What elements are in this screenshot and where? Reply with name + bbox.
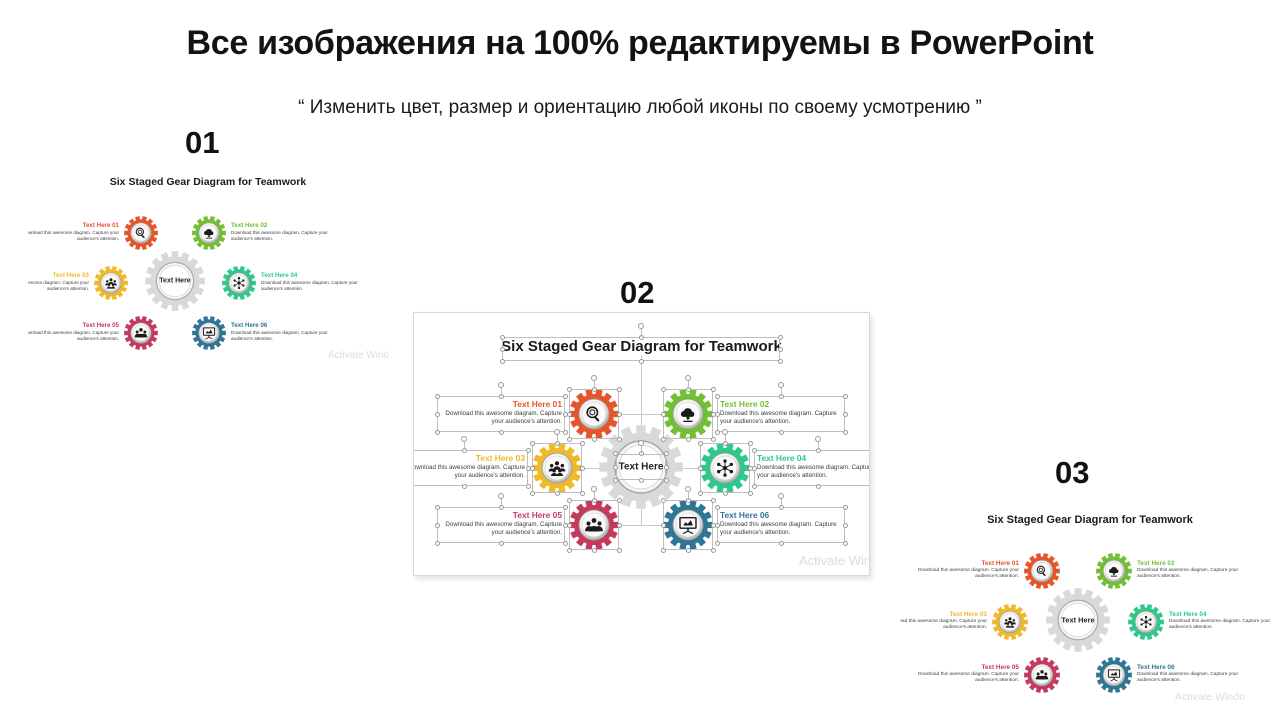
gear-shape[interactable] <box>663 500 713 550</box>
rotate-handle-stem <box>781 387 782 396</box>
resize-handle[interactable] <box>698 466 703 471</box>
magnifier-icon <box>134 226 148 240</box>
rotate-handle-stem <box>781 498 782 507</box>
gear-text-heading: Text Here 03 <box>28 272 89 279</box>
network-icon <box>715 458 735 478</box>
rotate-handle[interactable] <box>638 440 644 446</box>
gear-shape[interactable] <box>222 266 256 300</box>
resize-handle[interactable] <box>580 466 585 471</box>
gear-text-heading: Text Here 02 <box>231 222 329 229</box>
resize-handle[interactable] <box>639 359 644 364</box>
gear-shape[interactable] <box>700 443 750 493</box>
gear-text-heading: Text Here 04 <box>1169 611 1273 618</box>
resize-handle[interactable] <box>711 548 716 553</box>
resize-handle[interactable] <box>435 505 440 510</box>
gear-shape[interactable] <box>192 216 226 250</box>
page-title: Все изображения на 100% редактируемы в P… <box>0 24 1280 63</box>
resize-handle[interactable] <box>639 478 644 483</box>
gear-text-block[interactable]: Text Here 06Download this awesome diagra… <box>1137 664 1241 685</box>
resize-handle[interactable] <box>664 465 669 470</box>
resize-handle[interactable] <box>711 437 716 442</box>
resize-handle[interactable] <box>698 491 703 496</box>
magnifier-icon <box>1035 564 1049 578</box>
gear-text-heading: Text Here 02 <box>1137 560 1241 567</box>
rotate-handle-stem <box>818 441 819 450</box>
gear-shape[interactable] <box>1024 553 1060 589</box>
resize-handle[interactable] <box>563 412 568 417</box>
resize-handle[interactable] <box>723 491 728 496</box>
network-icon <box>232 276 246 290</box>
gear-shape[interactable] <box>124 316 158 350</box>
resize-handle[interactable] <box>435 394 440 399</box>
gear-text-heading: Text Here 06 <box>720 510 842 520</box>
slide-canvas: Все изображения на 100% редактируемы в P… <box>0 0 1280 720</box>
gear-diagram-02[interactable]: Six Staged Gear Diagram for Teamwork Tex… <box>413 312 870 576</box>
gear-text-body: Download this awesome diagram. Capture y… <box>231 230 329 242</box>
cloud-download-icon <box>1107 564 1121 578</box>
gear-text-body: Download this awesome diagram. Capture y… <box>900 619 987 632</box>
resize-handle[interactable] <box>711 387 716 392</box>
rotate-handle-stem <box>725 434 726 443</box>
resize-handle[interactable] <box>843 505 848 510</box>
resize-handle[interactable] <box>661 387 666 392</box>
resize-handle[interactable] <box>563 541 568 546</box>
resize-handle[interactable] <box>664 451 669 456</box>
resize-handle[interactable] <box>843 430 848 435</box>
activate-windows-watermark: Activate Windo <box>328 350 388 361</box>
resize-handle[interactable] <box>715 430 720 435</box>
step-number-01: 01 <box>185 125 219 161</box>
resize-handle[interactable] <box>778 359 783 364</box>
resize-handle[interactable] <box>563 430 568 435</box>
resize-handle[interactable] <box>843 541 848 546</box>
gear-shape[interactable] <box>1024 657 1060 693</box>
gear-text-heading: Text Here 01 <box>440 399 562 409</box>
gear-text-block[interactable]: Text Here 03Download this awesome diagra… <box>28 272 89 292</box>
gear-text-block[interactable]: Text Here 04Download this awesome diagra… <box>757 453 870 480</box>
gear-text-heading: Text Here 03 <box>413 453 525 463</box>
resize-handle[interactable] <box>711 498 716 503</box>
resize-handle[interactable] <box>613 465 618 470</box>
resize-handle[interactable] <box>698 441 703 446</box>
rotate-handle[interactable] <box>591 486 597 492</box>
gear-text-body: Download this awesome diagram. Capture y… <box>757 464 870 480</box>
resize-handle[interactable] <box>526 466 531 471</box>
resize-handle[interactable] <box>530 441 535 446</box>
resize-handle[interactable] <box>748 491 753 496</box>
group-people-icon <box>547 458 567 478</box>
resize-handle[interactable] <box>500 359 505 364</box>
resize-handle[interactable] <box>715 541 720 546</box>
resize-handle[interactable] <box>530 491 535 496</box>
resize-handle[interactable] <box>500 347 505 352</box>
presentation-icon <box>1107 668 1121 682</box>
resize-handle[interactable] <box>567 498 572 503</box>
gear-text-block[interactable]: Text Here 01Download this awesome diagra… <box>440 399 562 426</box>
gear-text-body: Download this awesome diagram. Capture y… <box>1169 619 1273 632</box>
gear-shape[interactable] <box>569 389 619 439</box>
resize-handle[interactable] <box>752 448 757 453</box>
resize-handle[interactable] <box>779 430 784 435</box>
teamwork-icon <box>584 515 604 535</box>
rotate-handle[interactable] <box>591 375 597 381</box>
gear-shape[interactable] <box>94 266 128 300</box>
gear-shape[interactable] <box>1096 657 1132 693</box>
rotate-handle[interactable] <box>778 493 784 499</box>
rotate-handle[interactable] <box>685 486 691 492</box>
gear-text-block[interactable]: Text Here 02Download this awesome diagra… <box>1137 560 1241 581</box>
resize-handle[interactable] <box>779 541 784 546</box>
resize-handle[interactable] <box>617 437 622 442</box>
center-gear[interactable]: Text Here <box>145 251 205 311</box>
group-people-icon <box>1003 615 1017 629</box>
gear-text-body: Download this awesome diagram. Capture y… <box>915 568 1019 581</box>
resize-handle[interactable] <box>661 523 666 528</box>
resize-handle[interactable] <box>816 484 821 489</box>
resize-handle[interactable] <box>664 478 669 483</box>
rotate-handle-stem <box>594 380 595 389</box>
gear-text-block[interactable]: Text Here 04Download this awesome diagra… <box>1169 611 1273 632</box>
resize-handle[interactable] <box>462 484 467 489</box>
resize-handle[interactable] <box>617 548 622 553</box>
gear-text-block[interactable]: Text Here 06Download this awesome diagra… <box>720 510 842 537</box>
gear-text-heading: Text Here 05 <box>915 664 1019 671</box>
rotate-handle[interactable] <box>498 493 504 499</box>
gear-text-block[interactable]: Text Here 02Download this awesome diagra… <box>720 399 842 426</box>
resize-handle[interactable] <box>843 394 848 399</box>
gear-text-body: Download this awesome diagram. Capture y… <box>720 521 842 537</box>
resize-handle[interactable] <box>778 347 783 352</box>
resize-handle[interactable] <box>567 387 572 392</box>
resize-handle[interactable] <box>580 491 585 496</box>
teamwork-icon <box>134 326 148 340</box>
activate-windows-watermark: Activate Windo <box>1175 691 1245 703</box>
resize-handle[interactable] <box>715 412 720 417</box>
resize-handle[interactable] <box>617 387 622 392</box>
magnifier-icon <box>584 404 604 424</box>
diagram-title: Six Staged Gear Diagram for Teamwork <box>414 338 869 355</box>
page-subtitle: “ Изменить цвет, размер и ориентацию люб… <box>0 97 1280 119</box>
gear-text-heading: Text Here 04 <box>261 272 359 279</box>
cloud-download-icon <box>678 404 698 424</box>
resize-handle[interactable] <box>843 412 848 417</box>
resize-handle[interactable] <box>563 523 568 528</box>
gear-text-body: Download this awesome diagram. Capture y… <box>440 410 562 426</box>
rotate-handle[interactable] <box>685 375 691 381</box>
rotate-handle[interactable] <box>554 429 560 435</box>
rotate-handle-stem <box>594 491 595 500</box>
gear-text-heading: Text Here 04 <box>757 453 870 463</box>
activate-windows-watermark: Activate Win <box>799 553 870 568</box>
resize-handle[interactable] <box>499 430 504 435</box>
rotate-handle[interactable] <box>461 436 467 442</box>
resize-handle[interactable] <box>567 548 572 553</box>
step-number-03: 03 <box>1055 455 1089 491</box>
resize-handle[interactable] <box>715 394 720 399</box>
gear-text-body: Download this awesome diagram. Capture y… <box>28 280 89 292</box>
resize-handle[interactable] <box>526 448 531 453</box>
gear-text-heading: Text Here 05 <box>440 510 562 520</box>
resize-handle[interactable] <box>752 484 757 489</box>
rotate-handle-stem <box>501 498 502 507</box>
rotate-handle-stem <box>688 380 689 389</box>
gear-shape[interactable] <box>532 443 582 493</box>
gear-text-heading: Text Here 01 <box>915 560 1019 567</box>
rotate-handle[interactable] <box>638 323 644 329</box>
resize-handle[interactable] <box>567 437 572 442</box>
gear-text-body: Download this awesome diagram. Capture y… <box>720 410 842 426</box>
resize-handle[interactable] <box>617 498 622 503</box>
cloud-download-icon <box>202 226 216 240</box>
resize-handle[interactable] <box>617 523 622 528</box>
gear-text-body: Download this awesome diagram. Capture y… <box>915 672 1019 685</box>
gear-text-block[interactable]: Text Here 01Download this awesome diagra… <box>28 222 119 242</box>
rotate-handle-stem <box>557 434 558 443</box>
diagram-title: Six Staged Gear Diagram for Teamwork <box>900 514 1280 526</box>
resize-handle[interactable] <box>661 412 666 417</box>
rotate-handle-stem <box>641 328 642 337</box>
resize-handle[interactable] <box>778 335 783 340</box>
gear-shape[interactable] <box>124 216 158 250</box>
rotate-handle-stem <box>464 441 465 450</box>
center-gear-label: Text Here <box>159 278 190 285</box>
resize-handle[interactable] <box>555 491 560 496</box>
resize-handle[interactable] <box>500 335 505 340</box>
gear-text-block[interactable]: Text Here 03Download this awesome diagra… <box>900 611 987 632</box>
rotate-handle[interactable] <box>722 429 728 435</box>
resize-handle[interactable] <box>715 523 720 528</box>
resize-handle[interactable] <box>752 466 757 471</box>
resize-handle[interactable] <box>715 505 720 510</box>
rotate-handle-stem <box>501 387 502 396</box>
gear-text-body: Download this awesome diagram. Capture y… <box>28 230 119 242</box>
gear-text-body: Download this awesome diagram. Capture y… <box>1137 672 1241 685</box>
teamwork-icon <box>1035 668 1049 682</box>
gear-text-body: Download this awesome diagram. Capture y… <box>1137 568 1241 581</box>
gear-text-heading: Text Here 06 <box>231 322 329 329</box>
resize-handle[interactable] <box>661 548 666 553</box>
rotate-handle-stem <box>641 445 642 454</box>
gear-shape[interactable] <box>992 604 1028 640</box>
center-gear[interactable]: Text Here <box>1046 588 1110 652</box>
gear-shape[interactable] <box>192 316 226 350</box>
gear-text-block[interactable]: Text Here 03Download this awesome diagra… <box>413 453 525 480</box>
gear-shape[interactable] <box>569 500 619 550</box>
gear-text-heading: Text Here 03 <box>900 611 987 618</box>
gear-text-block[interactable]: Text Here 05Download this awesome diagra… <box>915 664 1019 685</box>
gear-text-heading: Text Here 01 <box>28 222 119 229</box>
gear-text-body: Download this awesome diagram. Capture y… <box>231 330 329 342</box>
gear-text-body: Download this awesome diagram. Capture y… <box>261 280 359 292</box>
gear-shape[interactable] <box>663 389 713 439</box>
resize-handle[interactable] <box>435 523 440 528</box>
gear-text-block[interactable]: Text Here 05Download this awesome diagra… <box>28 322 119 342</box>
gear-text-body: Download this awesome diagram. Capture y… <box>28 330 119 342</box>
resize-handle[interactable] <box>661 437 666 442</box>
center-gear-label: Text Here <box>619 462 664 473</box>
gear-text-heading: Text Here 02 <box>720 399 842 409</box>
rotate-handle[interactable] <box>778 382 784 388</box>
resize-handle[interactable] <box>563 505 568 510</box>
center-gear-label: Text Here <box>1061 616 1094 625</box>
gear-shape[interactable] <box>1128 604 1164 640</box>
gear-text-block[interactable]: Text Here 02Download this awesome diagra… <box>231 222 329 242</box>
gear-text-block[interactable]: Text Here 05Download this awesome diagra… <box>440 510 562 537</box>
gear-text-heading: Text Here 05 <box>28 322 119 329</box>
resize-handle[interactable] <box>563 394 568 399</box>
gear-text-body: Download this awesome diagram. Capture y… <box>440 521 562 537</box>
resize-handle[interactable] <box>499 541 504 546</box>
resize-handle[interactable] <box>843 523 848 528</box>
resize-handle[interactable] <box>435 541 440 546</box>
resize-handle[interactable] <box>580 441 585 446</box>
network-icon <box>1139 615 1153 629</box>
gear-diagram-03[interactable]: Six Staged Gear Diagram for Teamwork Tex… <box>900 508 1280 714</box>
resize-handle[interactable] <box>686 437 691 442</box>
gear-text-heading: Text Here 06 <box>1137 664 1241 671</box>
group-people-icon <box>104 276 118 290</box>
rotate-handle[interactable] <box>498 382 504 388</box>
resize-handle[interactable] <box>592 548 597 553</box>
resize-handle[interactable] <box>661 498 666 503</box>
resize-handle[interactable] <box>435 412 440 417</box>
diagram-title: Six Staged Gear Diagram for Teamwork <box>28 176 388 188</box>
gear-diagram-01[interactable]: Six Staged Gear Diagram for Teamwork Tex… <box>28 168 388 373</box>
rotate-handle[interactable] <box>815 436 821 442</box>
gear-text-block[interactable]: Text Here 04Download this awesome diagra… <box>261 272 359 292</box>
presentation-icon <box>678 515 698 535</box>
resize-handle[interactable] <box>435 430 440 435</box>
gear-shape[interactable] <box>1096 553 1132 589</box>
rotate-handle-stem <box>688 491 689 500</box>
step-number-02: 02 <box>620 275 654 311</box>
resize-handle[interactable] <box>686 548 691 553</box>
resize-handle[interactable] <box>748 441 753 446</box>
gear-text-body: Download this awesome diagram. Capture y… <box>413 464 525 480</box>
resize-handle[interactable] <box>617 412 622 417</box>
presentation-icon <box>202 326 216 340</box>
resize-handle[interactable] <box>592 437 597 442</box>
gear-text-block[interactable]: Text Here 06Download this awesome diagra… <box>231 322 329 342</box>
gear-text-block[interactable]: Text Here 01Download this awesome diagra… <box>915 560 1019 581</box>
resize-handle[interactable] <box>526 484 531 489</box>
